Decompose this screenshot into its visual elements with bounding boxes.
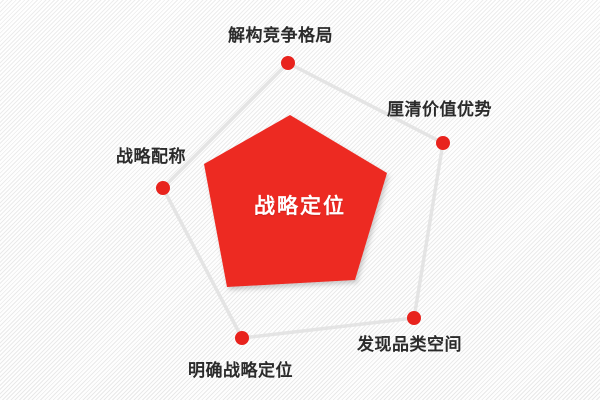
diagram-canvas: 解构竞争格局 厘清价值优势 发现品类空间 明确战略定位 战略配称 战略定位 [0, 0, 600, 400]
node-marker-0[interactable] [281, 56, 295, 70]
node-label-clarify-value-advantage: 厘清价值优势 [387, 101, 492, 118]
node-marker-4[interactable] [156, 181, 170, 195]
center-pentagon-label: 战略定位 [254, 196, 346, 217]
node-label-strategic-alignment: 战略配称 [116, 148, 186, 165]
node-label-define-strategic-position: 明确战略定位 [188, 362, 293, 379]
node-marker-1[interactable] [436, 136, 450, 150]
node-label-discover-category-space: 发现品类空间 [357, 336, 462, 353]
node-label-deconstruct-competition: 解构竞争格局 [228, 27, 333, 44]
node-marker-2[interactable] [407, 311, 421, 325]
node-marker-3[interactable] [235, 331, 249, 345]
